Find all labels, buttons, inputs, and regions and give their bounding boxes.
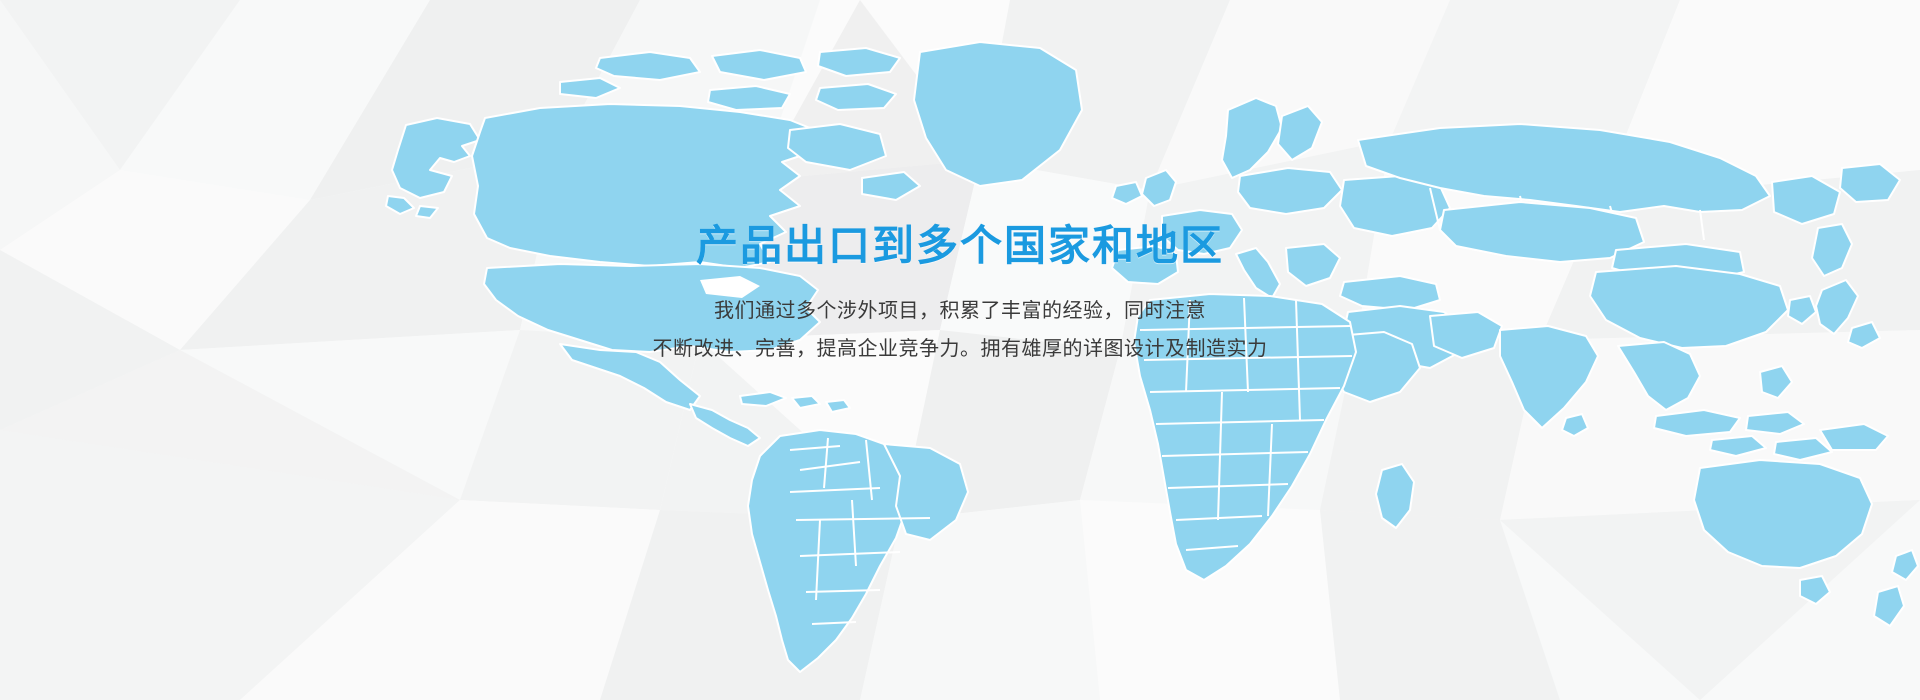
region-alaska — [392, 118, 480, 198]
hero-banner: 产品出口到多个国家和地区 我们通过多个涉外项目，积累了丰富的经验，同时注意 不断… — [0, 0, 1920, 700]
page-title: 产品出口到多个国家和地区 — [0, 222, 1920, 270]
region-greenland — [914, 42, 1082, 186]
region-new-zealand — [1892, 550, 1918, 580]
region-uk — [1142, 170, 1176, 206]
subtitle-line-1: 我们通过多个涉外项目，积累了丰富的经验，同时注意 — [0, 292, 1920, 330]
banner-copy-block: 产品出口到多个国家和地区 我们通过多个涉外项目，积累了丰富的经验，同时注意 不断… — [0, 222, 1920, 368]
region-central-america — [690, 404, 760, 446]
banner-subtitle: 我们通过多个涉外项目，积累了丰富的经验，同时注意 不断改进、完善，提高企业竞争力… — [0, 292, 1920, 368]
region-ireland — [1112, 182, 1142, 204]
region-scandinavia — [1222, 98, 1282, 178]
region-madagascar — [1376, 464, 1414, 528]
subtitle-line-2: 不断改进、完善，提高企业竞争力。拥有雄厚的详图设计及制造实力 — [0, 330, 1920, 368]
region-australia — [1694, 460, 1872, 568]
region-tasmania — [1800, 576, 1830, 604]
